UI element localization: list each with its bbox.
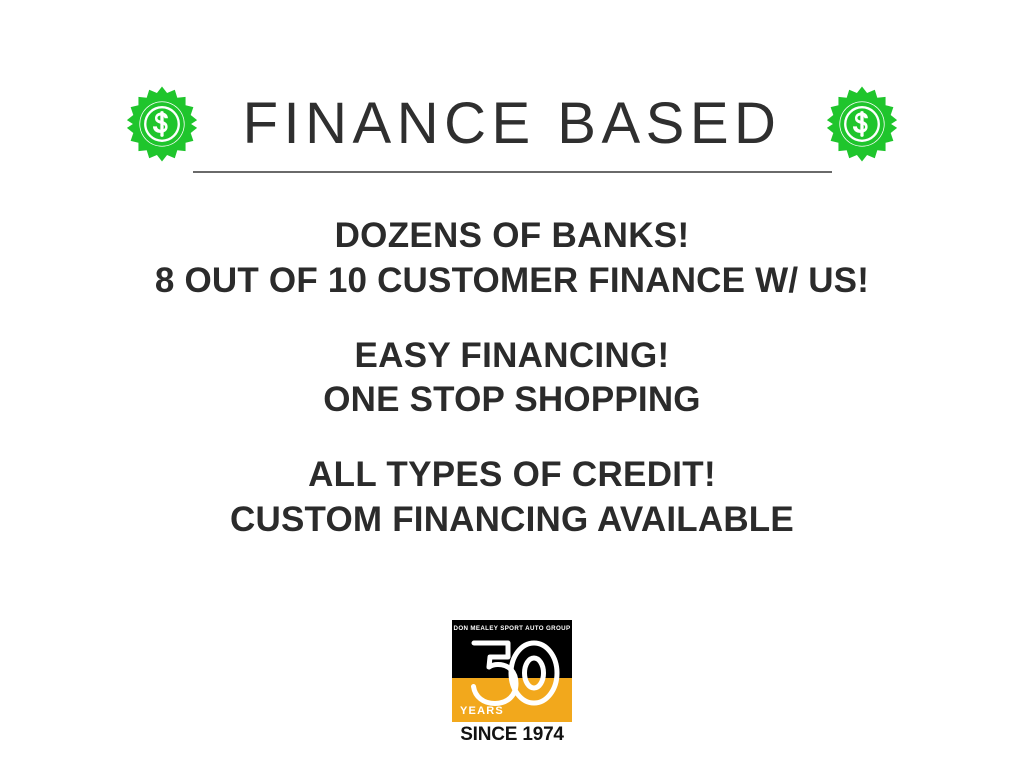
benefit-block: EASY FINANCING! ONE STOP SHOPPING: [0, 334, 1024, 424]
anniversary-badge: DON MEALEY SPORT AUTO GROUP: [452, 620, 572, 722]
benefits-copy: DOZENS OF BANKS! 8 OUT OF 10 CUSTOMER FI…: [0, 214, 1024, 543]
fifty-numeral: [452, 631, 572, 709]
money-gear-icon: [823, 85, 901, 163]
since-label: SINCE 1974: [452, 725, 572, 746]
benefit-headline: EASY FINANCING!: [0, 334, 1024, 379]
benefit-subline: CUSTOM FINANCING AVAILABLE: [0, 498, 1024, 543]
money-gear-icon: [123, 85, 201, 163]
dealer-logo: DON MEALEY SPORT AUTO GROUP: [452, 620, 572, 746]
title-divider: [193, 171, 832, 173]
benefit-block: ALL TYPES OF CREDIT! CUSTOM FINANCING AV…: [0, 453, 1024, 543]
page-header: FINANCE BASED: [0, 74, 1024, 174]
benefit-headline: DOZENS OF BANKS!: [0, 214, 1024, 259]
benefit-block: DOZENS OF BANKS! 8 OUT OF 10 CUSTOMER FI…: [0, 214, 1024, 304]
benefit-headline: ALL TYPES OF CREDIT!: [0, 453, 1024, 498]
benefit-subline: ONE STOP SHOPPING: [0, 378, 1024, 423]
page-title: FINANCE BASED: [243, 95, 782, 153]
dealer-group-name: DON MEALEY SPORT AUTO GROUP: [452, 625, 572, 632]
years-label: YEARS: [460, 706, 504, 717]
benefit-subline: 8 OUT OF 10 CUSTOMER FINANCE W/ US!: [0, 259, 1024, 304]
